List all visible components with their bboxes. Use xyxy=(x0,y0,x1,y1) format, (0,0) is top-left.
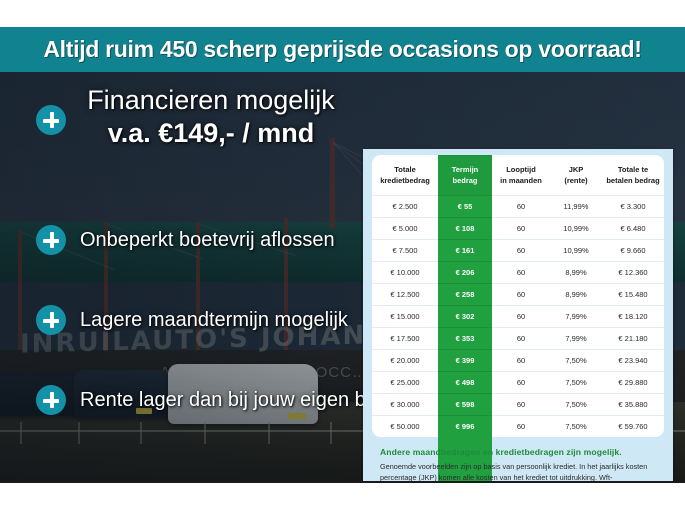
table-row: € 25.000€ 498607,50%€ 29.880 xyxy=(372,372,664,394)
rate-table-header-row: Totale kredietbedrag Termijn bedrag Loop… xyxy=(372,156,664,196)
header-line: (rente) xyxy=(564,176,587,185)
cell-term-months: 60 xyxy=(492,284,550,306)
cell-apr: 10,99% xyxy=(550,218,602,240)
cell-apr: 7,50% xyxy=(550,350,602,372)
cell-credit-amount: € 50.000 xyxy=(372,416,438,438)
table-row: € 17.500€ 353607,99%€ 21.180 xyxy=(372,328,664,350)
header-line: Looptijd xyxy=(506,165,536,174)
table-row: € 5.000€ 1086010,99%€ 6.480 xyxy=(372,218,664,240)
header-line: Termijn xyxy=(452,165,479,174)
cell-apr: 8,99% xyxy=(550,284,602,306)
cell-term-months: 60 xyxy=(492,196,550,218)
cell-apr: 10,99% xyxy=(550,240,602,262)
header-line: kredietbedrag xyxy=(380,176,430,185)
cell-term-months: 60 xyxy=(492,416,550,438)
promo-feature-1: Lagere maandtermijn mogelijk xyxy=(36,305,348,335)
cell-term-months: 60 xyxy=(492,262,550,284)
cell-monthly-payment: € 108 xyxy=(438,218,492,240)
cell-credit-amount: € 2.500 xyxy=(372,196,438,218)
cell-term-months: 60 xyxy=(492,394,550,416)
table-row: € 20.000€ 399607,50%€ 23.940 xyxy=(372,350,664,372)
table-row: € 12.500€ 258608,99%€ 15.480 xyxy=(372,284,664,306)
cell-credit-amount: € 30.000 xyxy=(372,394,438,416)
cell-credit-amount: € 5.000 xyxy=(372,218,438,240)
cell-total-repayable: € 12.360 xyxy=(602,262,664,284)
cell-monthly-payment: € 258 xyxy=(438,284,492,306)
plus-circle-icon xyxy=(36,225,66,255)
cell-apr: 7,50% xyxy=(550,394,602,416)
cell-credit-amount: € 7.500 xyxy=(372,240,438,262)
table-row: € 2.500€ 556011,99%€ 3.300 xyxy=(372,196,664,218)
cell-credit-amount: € 10.000 xyxy=(372,262,438,284)
cell-term-months: 60 xyxy=(492,328,550,350)
cell-term-months: 60 xyxy=(492,350,550,372)
top-promo-banner-text: Altijd ruim 450 scherp geprijsde occasio… xyxy=(43,36,641,63)
cell-total-repayable: € 35.880 xyxy=(602,394,664,416)
column-header-apr: JKP (rente) xyxy=(550,156,602,196)
promo-feature-label: Onbeperkt boetevrij aflossen xyxy=(80,229,335,252)
cell-total-repayable: € 18.120 xyxy=(602,306,664,328)
cell-total-repayable: € 15.480 xyxy=(602,284,664,306)
header-line: JKP xyxy=(569,165,584,174)
cell-credit-amount: € 15.000 xyxy=(372,306,438,328)
cell-monthly-payment: € 498 xyxy=(438,372,492,394)
header-line: bedrag xyxy=(452,176,477,185)
promo-feature-list: Financieren mogelijk v.a. €149,- / mnd O… xyxy=(0,72,370,483)
cell-apr: 11,99% xyxy=(550,196,602,218)
promo-feature-label: Rente lager dan bij jouw eigen bank xyxy=(80,389,398,412)
promo-feature-0: Onbeperkt boetevrij aflossen xyxy=(36,225,335,255)
promo-headline-block: Financieren mogelijk v.a. €149,- / mnd xyxy=(56,84,366,150)
rate-table-body: € 2.500€ 556011,99%€ 3.300€ 5.000€ 10860… xyxy=(372,196,664,438)
cell-apr: 7,50% xyxy=(550,372,602,394)
table-row: € 7.500€ 1616010,99%€ 9.660 xyxy=(372,240,664,262)
cell-credit-amount: € 17.500 xyxy=(372,328,438,350)
cell-monthly-payment: € 996 xyxy=(438,416,492,438)
rate-table: Totale kredietbedrag Termijn bedrag Loop… xyxy=(372,155,664,437)
cell-term-months: 60 xyxy=(492,372,550,394)
cell-total-repayable: € 3.300 xyxy=(602,196,664,218)
cell-monthly-payment: € 353 xyxy=(438,328,492,350)
cell-apr: 7,50% xyxy=(550,416,602,438)
top-promo-banner: Altijd ruim 450 scherp geprijsde occasio… xyxy=(0,27,685,72)
table-row: € 50.000€ 996607,50%€ 59.760 xyxy=(372,416,664,438)
header-line: in maanden xyxy=(500,176,542,185)
promo-headline-line1: Financieren mogelijk xyxy=(56,84,366,116)
cell-credit-amount: € 12.500 xyxy=(372,284,438,306)
table-row: € 10.000€ 206608,99%€ 12.360 xyxy=(372,262,664,284)
cell-monthly-payment: € 206 xyxy=(438,262,492,284)
cell-total-repayable: € 59.760 xyxy=(602,416,664,438)
cell-apr: 7,99% xyxy=(550,306,602,328)
promo-feature-label: Lagere maandtermijn mogelijk xyxy=(80,309,348,332)
cell-monthly-payment: € 598 xyxy=(438,394,492,416)
card-note-title: Andere maandbedragen en kredietbedragen … xyxy=(380,447,658,457)
column-header-credit-amount: Totale kredietbedrag xyxy=(372,156,438,196)
cell-total-repayable: € 6.480 xyxy=(602,218,664,240)
column-header-term: Looptijd in maanden xyxy=(492,156,550,196)
header-line: betalen bedrag xyxy=(606,176,659,185)
cell-monthly-payment: € 161 xyxy=(438,240,492,262)
card-note-body: Genoemde voorbeelden zijn op basis van p… xyxy=(380,462,658,483)
column-header-total-repayable: Totale te betalen bedrag xyxy=(602,156,664,196)
cell-total-repayable: € 21.180 xyxy=(602,328,664,350)
cell-monthly-payment: € 55 xyxy=(438,196,492,218)
header-line: Totale xyxy=(394,165,416,174)
cell-credit-amount: € 20.000 xyxy=(372,350,438,372)
financing-info-card: Totale kredietbedrag Termijn bedrag Loop… xyxy=(363,149,673,483)
table-row: € 15.000€ 302607,99%€ 18.120 xyxy=(372,306,664,328)
cell-term-months: 60 xyxy=(492,240,550,262)
promo-feature-2: Rente lager dan bij jouw eigen bank xyxy=(36,385,398,415)
cell-credit-amount: € 25.000 xyxy=(372,372,438,394)
cell-term-months: 60 xyxy=(492,218,550,240)
dealership-photo-backdrop: INRUILAUTO'S JOHAN MEURE ALTIJD 450 BOVA… xyxy=(0,72,685,483)
cell-total-repayable: € 23.940 xyxy=(602,350,664,372)
cell-monthly-payment: € 399 xyxy=(438,350,492,372)
cell-monthly-payment: € 302 xyxy=(438,306,492,328)
cell-total-repayable: € 29.880 xyxy=(602,372,664,394)
plus-circle-icon xyxy=(36,385,66,415)
rate-table-head: Totale kredietbedrag Termijn bedrag Loop… xyxy=(372,156,664,196)
cell-apr: 7,99% xyxy=(550,328,602,350)
advertisement-banner-page: Altijd ruim 450 scherp geprijsde occasio… xyxy=(0,0,685,513)
promo-headline-line2: v.a. €149,- / mnd xyxy=(56,116,366,150)
plus-circle-icon xyxy=(36,305,66,335)
cell-total-repayable: € 9.660 xyxy=(602,240,664,262)
column-header-monthly-payment: Termijn bedrag xyxy=(438,156,492,196)
rate-table-container: Totale kredietbedrag Termijn bedrag Loop… xyxy=(372,155,664,437)
table-row: € 30.000€ 598607,50%€ 35.880 xyxy=(372,394,664,416)
header-line: Totale te xyxy=(618,165,648,174)
cell-term-months: 60 xyxy=(492,306,550,328)
cell-apr: 8,99% xyxy=(550,262,602,284)
